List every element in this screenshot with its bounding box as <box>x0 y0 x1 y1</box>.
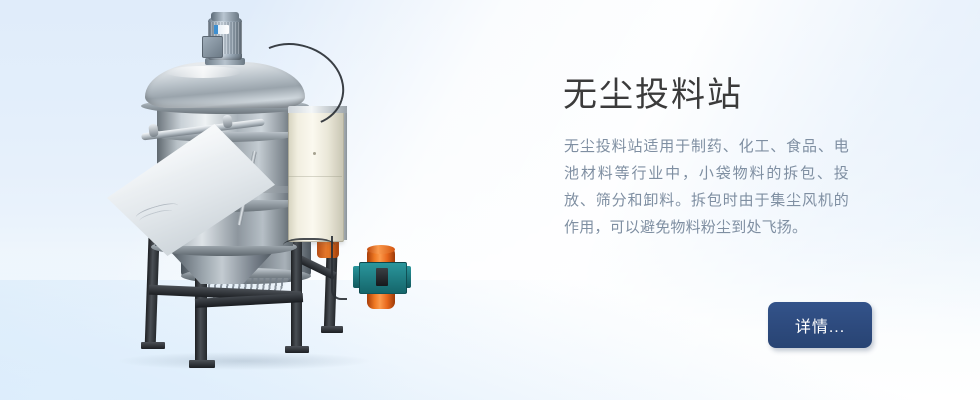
vibration-motor-cap <box>367 245 395 254</box>
product-banner: 无尘投料站 无尘投料站适用于制药、化工、食品、电池材料等行业中，小袋物料的拆包、… <box>0 0 980 400</box>
frame-foot-4 <box>321 326 343 333</box>
banner-content: 无尘投料站 无尘投料站适用于制药、化工、食品、电池材料等行业中，小袋物料的拆包、… <box>563 0 963 400</box>
product-description: 无尘投料站适用于制药、化工、食品、电池材料等行业中，小袋物料的拆包、投放、筛分和… <box>564 133 849 241</box>
frame-foot-1 <box>141 342 165 349</box>
drive-motor-fan-cover <box>211 12 239 21</box>
vibration-motor-core <box>376 268 388 286</box>
details-button[interactable]: 详情... <box>768 302 872 348</box>
frame-foot-3 <box>285 346 309 353</box>
machine-ground-shadow <box>119 352 369 370</box>
drive-motor-junction-box <box>202 36 223 58</box>
control-cabinet-screw <box>313 152 316 155</box>
control-cabinet-seam <box>288 176 342 177</box>
lid-hinge-right <box>222 115 233 129</box>
power-cable-loop <box>283 238 335 256</box>
lid-hinge-left <box>148 124 159 138</box>
dome-highlight <box>165 66 241 78</box>
product-photo <box>95 0 415 400</box>
page-title: 无尘投料站 <box>563 73 743 117</box>
frame-foot-2 <box>189 360 215 368</box>
drive-motor-nameplate-accent <box>214 25 218 34</box>
